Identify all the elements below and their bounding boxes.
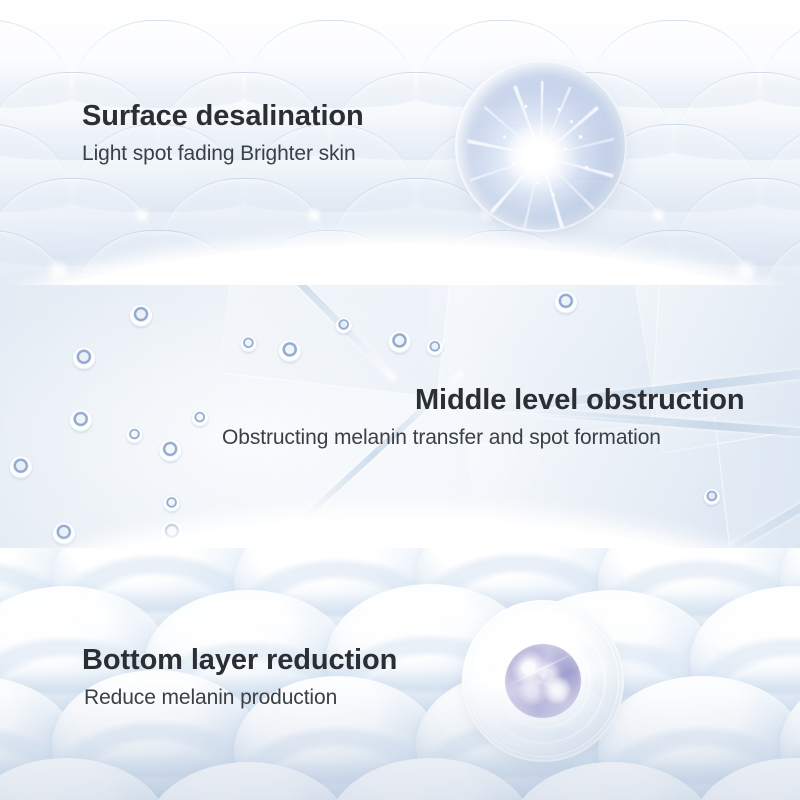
middle-title: Middle level obstruction [415,384,745,416]
sparkle-icon [389,258,415,284]
micro-bubble-icon [126,427,143,444]
micro-bubble-icon [191,410,208,427]
micro-bubble-icon [69,409,92,432]
micro-bubble-icon [9,456,32,479]
surface-text-block: Surface desalination Light spot fading B… [82,100,364,167]
sphere-rim-highlight [462,600,624,762]
crystalline-core-sphere-icon [462,600,624,762]
sparkle-icon [217,258,243,284]
bottom-title: Bottom layer reduction [82,644,397,676]
micro-bubble-icon [72,347,95,370]
sparkle-icon [133,206,151,224]
micro-bubble-icon [163,495,180,512]
micro-bubble-icon [160,521,183,544]
micro-bubble-icon [52,522,75,545]
micro-bubble-icon [130,304,153,327]
surface-title: Surface desalination [82,100,364,132]
surface-subtitle: Light spot fading Brighter skin [82,141,364,166]
skincare-layer-poster: Surface desalination Light spot fading B… [0,0,800,800]
micro-bubble-icon [159,439,182,462]
sparkle-icon [561,258,587,284]
bottom-text-block: Bottom layer reduction Reduce melanin pr… [82,644,397,711]
sparkle-icon [733,258,759,284]
sparkle-icon [305,206,323,224]
sparkle-icon [45,258,71,284]
middle-text-block: Middle level obstruction Obstructing mel… [415,384,745,451]
starburst-water-sphere-icon [455,60,627,232]
sphere-rim-highlight [455,60,627,232]
sparkle-icon [649,206,667,224]
bottom-subtitle: Reduce melanin production [84,685,397,710]
middle-subtitle: Obstructing melanin transfer and spot fo… [222,425,745,450]
